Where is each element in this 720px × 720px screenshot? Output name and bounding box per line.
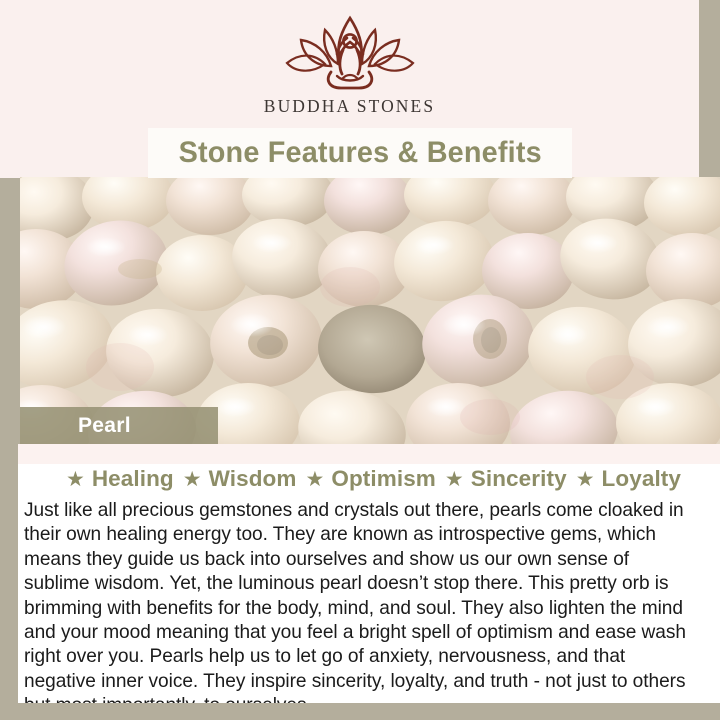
benefit-label: Wisdom <box>209 466 297 492</box>
star-icon: ★ <box>183 469 202 490</box>
stone-name: Pearl <box>20 414 131 438</box>
star-icon: ★ <box>306 469 325 490</box>
brand-logo: BUDDHA STONES <box>0 14 699 117</box>
benefits-row: ★ Healing ★ Wisdom ★ Optimism ★ Sincerit… <box>18 466 720 492</box>
brand-name: BUDDHA STONES <box>0 96 699 117</box>
stone-name-banner: Pearl <box>20 407 218 444</box>
description-text: Just like all precious gemstones and cry… <box>24 498 700 718</box>
star-icon: ★ <box>445 469 464 490</box>
bottom-frame-strip <box>0 703 720 720</box>
benefit-item-wisdom: ★ Wisdom <box>174 466 297 492</box>
benefit-item-optimism: ★ Optimism <box>297 466 436 492</box>
lotus-meditation-icon <box>275 14 425 92</box>
star-icon: ★ <box>576 469 595 490</box>
benefit-label: Optimism <box>331 466 436 492</box>
benefit-label: Loyalty <box>602 466 681 492</box>
benefit-label: Healing <box>92 466 174 492</box>
infographic-page: BUDDHA STONES <box>0 0 720 720</box>
star-icon: ★ <box>66 469 85 490</box>
benefit-label: Sincerity <box>471 466 567 492</box>
section-title-banner: Stone Features & Benefits <box>148 128 572 178</box>
benefit-item-loyalty: ★ Loyalty <box>567 466 681 492</box>
benefit-item-healing: ★ Healing <box>57 466 174 492</box>
page-title: Stone Features & Benefits <box>178 136 541 170</box>
pearl-photo-illustration <box>20 177 720 444</box>
card-top-strip <box>18 444 720 464</box>
benefit-item-sincerity: ★ Sincerity <box>436 466 567 492</box>
pearl-photo <box>20 177 720 444</box>
